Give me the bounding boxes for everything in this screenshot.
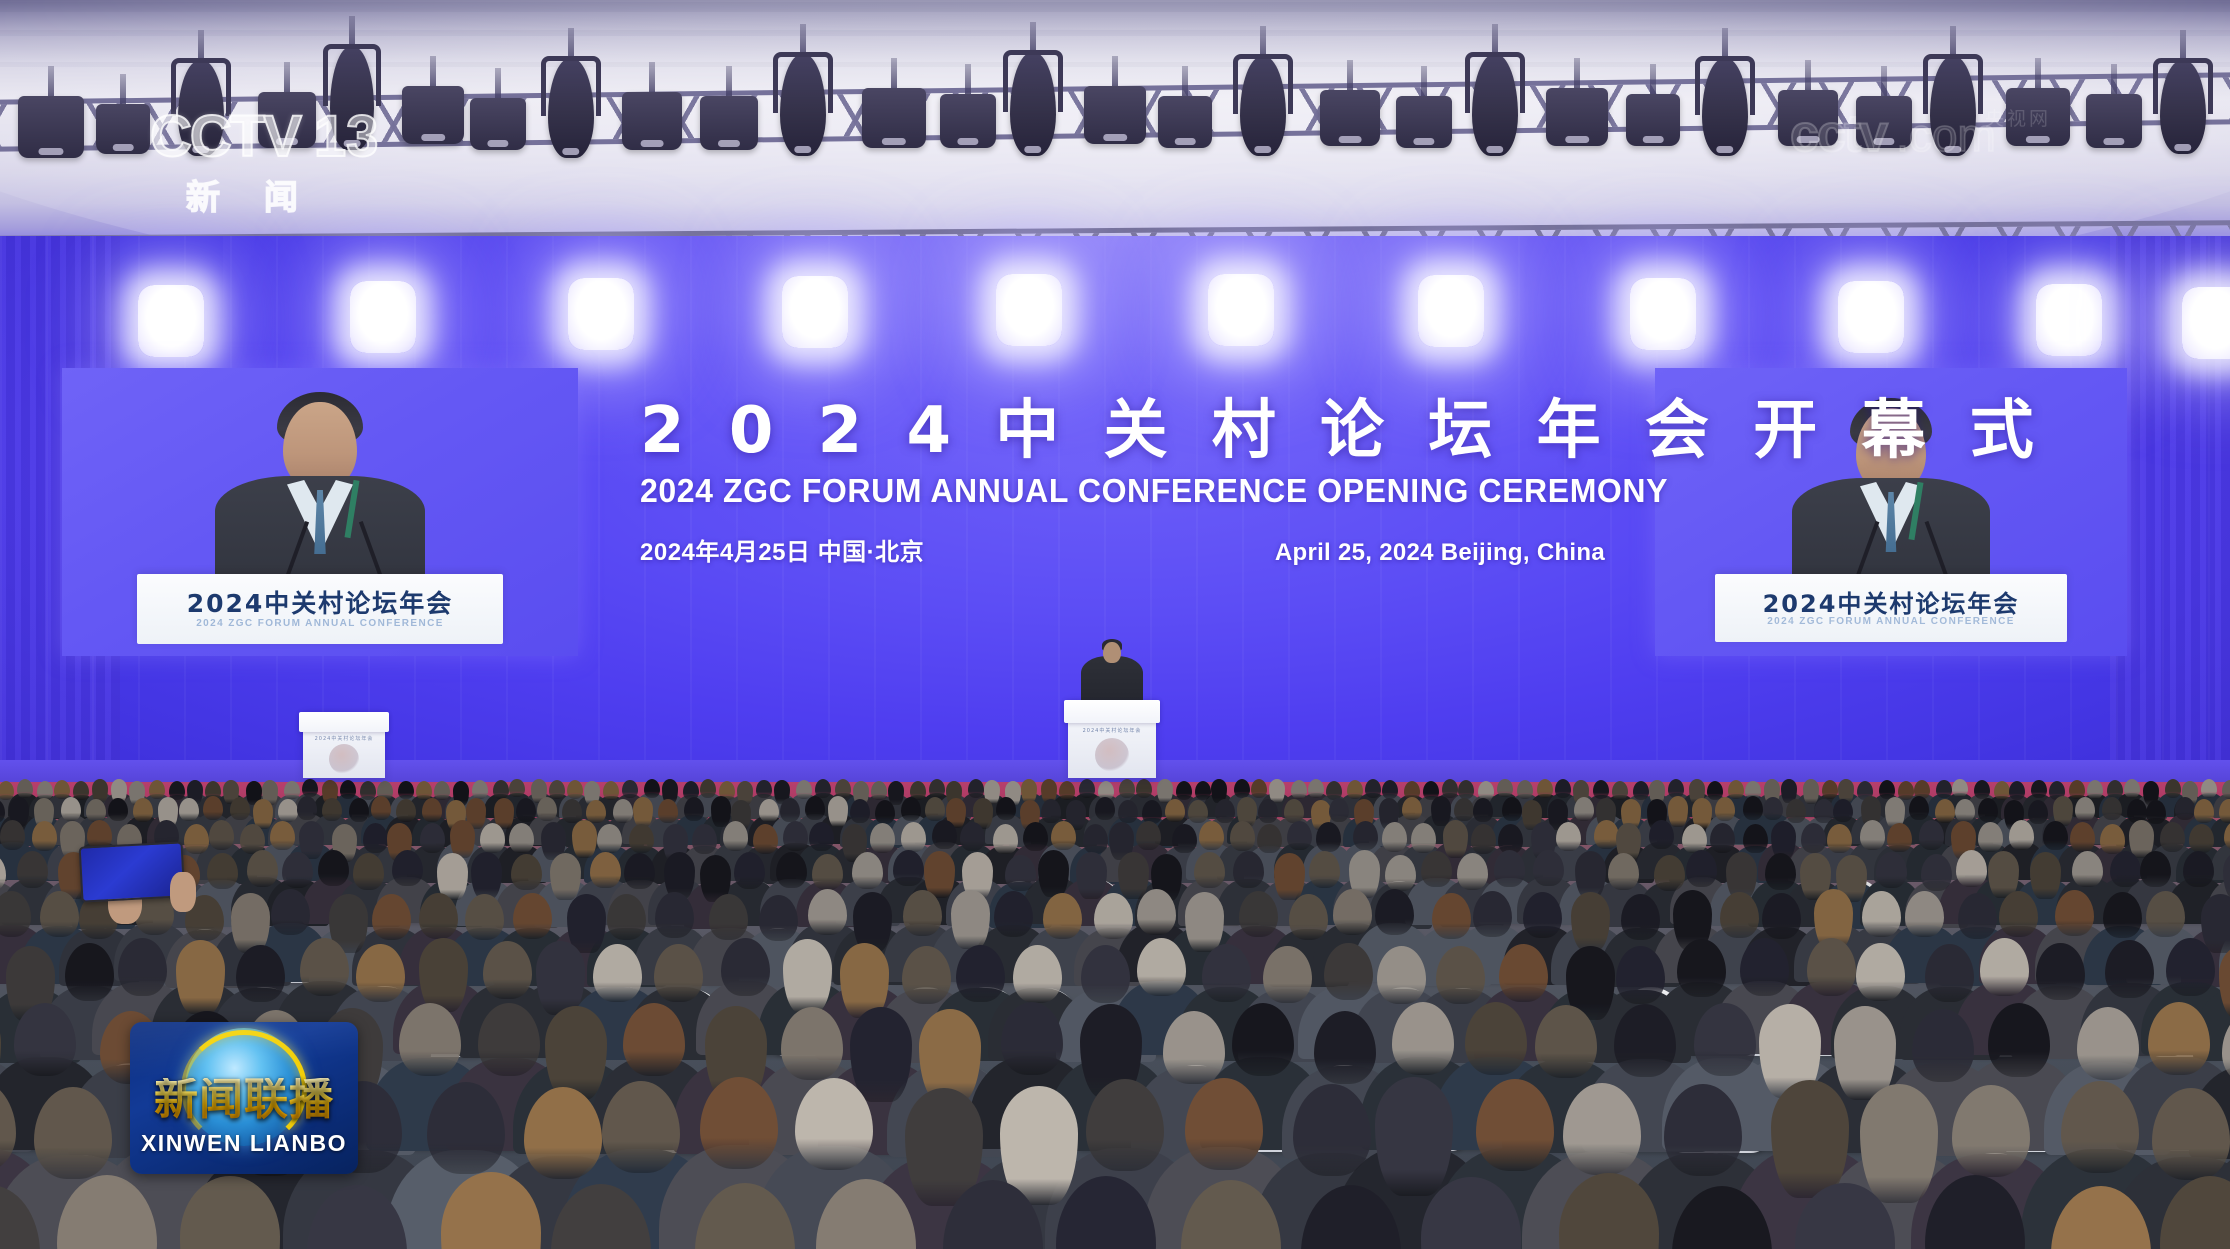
- cctv-channel-subtitle: 新 闻: [186, 170, 378, 219]
- audience-member-head: [586, 800, 606, 824]
- audience-member-head: [1833, 799, 1853, 823]
- watermark-cn-caption: 央视网: [1985, 104, 2051, 131]
- audience-member-head: [480, 823, 505, 853]
- podium-top-panel: [1064, 700, 1161, 723]
- audience-member-head: [1230, 821, 1255, 851]
- audience-member-head: [2165, 779, 2181, 798]
- audience-member-head: [1668, 796, 1688, 826]
- event-title-block: 2 0 2 4 中 关 村 论 坛 年 会 开 幕 式 2024 ZGC FOR…: [640, 398, 1605, 567]
- audience-member-head: [960, 822, 985, 852]
- audience-member-head: [700, 779, 716, 798]
- audience-member-head: [902, 946, 951, 1004]
- audience-member-head: [1086, 1079, 1164, 1171]
- audience-member-head: [108, 798, 128, 822]
- audience-member-head: [903, 890, 942, 936]
- led-podium: 2024中关村论坛年会 2024 ZGC FORUM ANNUAL CONFER…: [137, 574, 503, 644]
- audience-member-head: [2072, 851, 2103, 888]
- audience-member-head: [1614, 1004, 1676, 1077]
- live-speaker: [1081, 656, 1143, 706]
- stage-softbox-light: [782, 276, 848, 348]
- audience-member-head: [809, 822, 834, 852]
- audience-member-head: [1365, 779, 1381, 798]
- truss-hanger-cable: [1112, 56, 1118, 90]
- light-lens: [641, 140, 664, 147]
- audience-member-head: [371, 796, 391, 820]
- audience-member-head: [1594, 820, 1619, 850]
- cctv-channel-logo: CCTV 13 新 闻: [150, 108, 378, 219]
- audience-member-head: [1142, 800, 1162, 824]
- audience-member-head: [759, 799, 779, 823]
- light-lens: [1565, 136, 1589, 143]
- truss-hanger-cable: [1574, 58, 1580, 92]
- stage-softbox-light: [1630, 278, 1696, 350]
- light-yoke: [1233, 54, 1293, 114]
- audience-member-head: [1382, 780, 1398, 799]
- audience-member-head: [783, 939, 832, 1013]
- audience-member-head: [1119, 779, 1135, 798]
- light-yoke: [1923, 54, 1983, 114]
- audience-member-head: [1239, 891, 1278, 937]
- audience-member-head: [493, 780, 509, 799]
- light-lens: [794, 146, 811, 153]
- podium-top-panel: [299, 712, 389, 732]
- audience-member-head: [392, 850, 423, 887]
- program-title-en: XINWEN LIANBO: [130, 1130, 358, 1157]
- audience-member-head: [562, 799, 582, 823]
- audience-member-head: [1038, 850, 1069, 897]
- cctv-channel-number: 13: [314, 108, 379, 166]
- audience-member-head: [1803, 779, 1819, 803]
- audience-member-head: [2087, 780, 2103, 799]
- audience-member-head: [1473, 798, 1493, 822]
- audience-member-head: [850, 1007, 912, 1101]
- audience-member-head: [1999, 891, 2038, 937]
- light-yoke: [323, 44, 381, 106]
- audience-member-head: [509, 779, 525, 798]
- stage-light-fixture: [1158, 96, 1212, 148]
- audience-member-head: [1118, 800, 1138, 824]
- audience-member-head: [1925, 944, 1974, 1002]
- audience-member-head: [1118, 852, 1149, 899]
- led-podium-title-cn: 2024中关村论坛年会: [137, 584, 503, 620]
- audience-member-head: [2194, 799, 2214, 823]
- truss-hanger-cable: [430, 56, 436, 90]
- audience-member-head: [1136, 779, 1152, 798]
- audience-member-head: [1195, 781, 1211, 800]
- audience-member-head: [644, 779, 660, 798]
- audience-member-head: [1382, 822, 1407, 852]
- audience-member-head: [756, 780, 772, 799]
- stage-light-fixture: [96, 104, 150, 154]
- audience-member-head: [2201, 779, 2217, 798]
- audience-member-head: [2160, 822, 2185, 852]
- audience-member-head: [509, 823, 534, 853]
- audience-member-head: [1375, 889, 1414, 935]
- audience-member-head: [184, 824, 209, 854]
- audience-member-head: [536, 941, 585, 1015]
- truss-hanger-cable: [1650, 64, 1656, 98]
- light-yoke: [1465, 52, 1525, 113]
- audience-member-head: [1814, 799, 1834, 823]
- truss-hanger-cable: [1881, 66, 1887, 100]
- audience-member-head: [1137, 938, 1186, 996]
- audience-member-head: [951, 890, 990, 949]
- stage-light-fixture: [862, 88, 926, 148]
- audience-member-head: [133, 798, 153, 822]
- stage-softbox-light: [138, 285, 204, 357]
- audience-member-head: [1827, 824, 1852, 854]
- audience-member-head: [300, 938, 349, 996]
- truss-hanger-cable: [2111, 64, 2117, 98]
- audience-member-head: [932, 820, 957, 850]
- podium-nameplate: 2024中关村论坛年会: [303, 735, 385, 742]
- audience-member-head: [1494, 850, 1525, 887]
- stage-light-fixture: [1396, 96, 1452, 148]
- truss-hanger-cable: [726, 66, 732, 100]
- audience-member-head: [2189, 824, 2214, 854]
- audience-member-head: [1172, 824, 1197, 854]
- moving-head-light: [1702, 58, 1748, 156]
- audience-member-head: [302, 779, 318, 798]
- audience-member-head: [2009, 781, 2025, 800]
- event-title-en: 2024 ZGC FORUM ANNUAL CONFERENCE OPENING…: [640, 472, 1576, 510]
- audience-member-head: [0, 820, 25, 850]
- audience-member-head: [850, 799, 870, 823]
- audience-member-head: [1743, 796, 1763, 820]
- audience-member-head: [852, 852, 883, 889]
- audience-member-head: [1005, 855, 1036, 892]
- audience-member-head: [1502, 797, 1522, 821]
- stage-light-fixture: [1084, 86, 1146, 144]
- audience-member-head: [349, 798, 369, 822]
- audience-member-head: [1763, 797, 1783, 821]
- stage-light-fixture: [402, 86, 464, 144]
- audience-member-head: [472, 780, 488, 799]
- audience-member-head: [1308, 779, 1324, 798]
- event-date-cn: 2024年4月25日 中国·北京: [640, 532, 924, 567]
- audience-member-head: [1801, 823, 1826, 853]
- audience-member-head: [1523, 892, 1562, 938]
- audience-member-head: [1533, 850, 1564, 887]
- audience-member-head: [549, 780, 565, 799]
- audience-member-head: [17, 779, 33, 798]
- audience-member-head: [1458, 780, 1474, 799]
- event-date-en: April 25, 2024 Beijing, China: [1275, 539, 1605, 567]
- audience-member-head: [2028, 800, 2048, 824]
- audience-member-head: [1188, 800, 1208, 824]
- audience-member-head: [835, 779, 851, 798]
- truss-hanger-cable: [495, 68, 501, 102]
- audience-member-head: [37, 781, 53, 800]
- audience-member-head: [875, 800, 895, 824]
- audience-member-head: [1537, 779, 1553, 798]
- audience-member-head: [1023, 822, 1048, 852]
- audience-member-head: [1251, 779, 1267, 798]
- audience-member-head: [1887, 823, 1912, 853]
- truss-hanger-cable: [2035, 58, 2041, 92]
- audience-member-head: [812, 854, 843, 891]
- audience-member-head: [1988, 1003, 2050, 1076]
- audience-member-head: [1233, 851, 1264, 888]
- light-lens: [2026, 136, 2050, 143]
- audience-member-head: [1786, 799, 1806, 823]
- audience-member-head: [2222, 780, 2230, 799]
- audience-member-head: [61, 797, 81, 821]
- audience-member-head: [2030, 852, 2061, 899]
- audience-member-head: [1375, 1077, 1453, 1196]
- audience-member-head: [1473, 891, 1512, 937]
- truss-hanger-cable: [649, 62, 655, 96]
- audience-member-head: [363, 823, 388, 853]
- led-podium: 2024中关村论坛年会 2024 ZGC FORUM ANNUAL CONFER…: [1715, 574, 2067, 642]
- audience-member-head: [780, 798, 800, 822]
- audience-member-head: [925, 797, 945, 821]
- audience-member-head: [1978, 798, 1998, 822]
- light-lens: [1413, 138, 1434, 145]
- light-yoke: [2153, 58, 2213, 114]
- audience-member-head: [870, 823, 895, 853]
- audience-member-head: [1471, 824, 1496, 854]
- stage-softbox-light: [2182, 287, 2230, 359]
- watermark-brand: cctv: [1790, 108, 1886, 160]
- audience-member-head: [1876, 852, 1907, 889]
- audience-member-head: [1994, 781, 2010, 800]
- ceiling-band: [0, 30, 2230, 36]
- audience-member-head: [1682, 824, 1707, 854]
- audience-member-head: [356, 944, 405, 1002]
- moving-head-light: [1010, 52, 1056, 156]
- truss-hanger-cable: [891, 58, 897, 92]
- audience-member-head: [1728, 780, 1744, 799]
- audience-member-head: [40, 891, 79, 937]
- light-lens: [113, 144, 134, 151]
- audience-member-head: [1185, 892, 1224, 951]
- audience-member-head: [629, 824, 654, 854]
- audience-member-head: [318, 850, 349, 887]
- audience-member-head: [1593, 780, 1609, 799]
- audience-member-head: [2110, 851, 2141, 888]
- stage-podium-center: 2024中关村论坛年会: [1068, 700, 1156, 778]
- truss-hanger-cable: [1421, 66, 1427, 100]
- audience-member-head: [1257, 824, 1282, 854]
- audience-member-head: [1921, 854, 1952, 891]
- audience-member-head: [1955, 799, 1975, 823]
- audience-member-head: [1136, 821, 1161, 851]
- audience-member-head: [1385, 855, 1416, 892]
- audience-member-head: [1287, 821, 1312, 851]
- audience-member-head: [1411, 823, 1436, 853]
- audience-member-head: [297, 796, 317, 820]
- light-lens: [1339, 136, 1362, 143]
- event-title-cn: 2 0 2 4 中 关 村 论 坛 年 会 开 幕 式: [640, 398, 1605, 466]
- audience-member-head: [1079, 779, 1095, 798]
- audience-member-head: [1457, 853, 1488, 890]
- audience-member-head: [1043, 893, 1082, 939]
- moving-head-light: [548, 58, 594, 158]
- audience-member-head: [655, 892, 694, 938]
- truss-hanger-cable: [1182, 66, 1188, 100]
- audience-member-head: [1935, 799, 1955, 823]
- light-lens: [2174, 144, 2191, 151]
- truss-hanger-cable: [1805, 60, 1811, 94]
- audience-member-head: [1274, 853, 1305, 900]
- led-podium-title-en: 2024 ZGC FORUM ANNUAL CONFERENCE: [1715, 616, 2067, 627]
- audience-member-head: [1574, 797, 1594, 821]
- stage-softbox-light: [1208, 274, 1274, 346]
- audience-member-head: [1309, 851, 1340, 888]
- stage-light-fixture: [940, 94, 996, 148]
- audience-member-head: [734, 852, 765, 889]
- watermark-domain: .com: [1896, 112, 1996, 158]
- truss-hanger-cable: [284, 62, 290, 96]
- event-meta-row: 2024年4月25日 中国·北京 April 25, 2024 Beijing,…: [640, 532, 1605, 567]
- led-screen-left: 2024中关村论坛年会 2024 ZGC FORUM ANNUAL CONFER…: [62, 368, 578, 656]
- audience-member-head: [399, 1003, 461, 1076]
- audience-member-head: [419, 938, 468, 1012]
- audience-member-head: [1879, 780, 1895, 799]
- audience-member-head: [360, 781, 376, 800]
- audience-member-head: [723, 821, 748, 851]
- audience-member-head: [1612, 781, 1628, 800]
- audience-member-head: [513, 893, 552, 939]
- audience-member-head: [176, 940, 225, 1014]
- audience-member-head: [2100, 824, 2125, 854]
- cctv-logo-row: CCTV 13: [150, 108, 378, 166]
- raised-hand-thumb: [170, 872, 196, 912]
- stage-light-fixture: [700, 96, 758, 150]
- audience-member-head: [86, 799, 106, 823]
- audience-member-head: [1743, 824, 1768, 854]
- audience-member-head: [2031, 780, 2047, 799]
- audience-member-head: [1094, 893, 1133, 939]
- audience-member-head: [613, 799, 633, 823]
- truss-hanger-cable: [120, 74, 126, 108]
- audience-member-head: [993, 824, 1018, 854]
- podium-emblem: [1095, 738, 1129, 772]
- audience-member-head: [1083, 824, 1108, 854]
- truss-hanger-cable: [965, 64, 971, 98]
- audience-member-head: [1316, 822, 1341, 852]
- light-lens: [421, 134, 445, 141]
- stage-softbox-light: [2036, 284, 2102, 356]
- audience-member-head: [1329, 798, 1349, 822]
- audience-member-head: [1234, 779, 1250, 798]
- stage-light-fixture: [622, 92, 682, 150]
- program-title-cn: 新闻联播: [130, 1078, 358, 1122]
- audience-member-head: [322, 798, 342, 822]
- audience-member-head: [1284, 799, 1304, 823]
- audience-member-head: [1980, 938, 2029, 996]
- audience-member-head: [1608, 853, 1639, 890]
- audience-member-head: [511, 854, 542, 891]
- audience-member-head: [2166, 938, 2215, 996]
- audience-member-head: [776, 852, 807, 889]
- audience-member-head: [1621, 894, 1660, 940]
- audience-member-head: [815, 779, 831, 798]
- audience-member-head: [179, 798, 199, 822]
- audience-member-head: [416, 781, 432, 800]
- audience-member-head: [1936, 780, 1952, 799]
- audience-member-head: [1194, 852, 1225, 889]
- audience-member-head: [1258, 799, 1278, 823]
- light-yoke: [1003, 50, 1063, 112]
- audience-member-head: [0, 781, 14, 800]
- stage-softbox-light: [1418, 275, 1484, 347]
- audience-member-head: [1649, 820, 1674, 850]
- stage-light-fixture: [470, 98, 526, 150]
- audience-member-head: [1633, 781, 1649, 800]
- audience-member-head: [1898, 781, 1914, 800]
- audience-member-head: [2070, 822, 2095, 852]
- audience-member-head: [1616, 946, 1665, 1004]
- audience-member-head: [2175, 797, 2195, 821]
- ceiling-band: [0, 2, 2230, 12]
- audience-member-head: [32, 821, 57, 851]
- cctv-com-watermark: cctv .com: [1790, 108, 1996, 160]
- audience-member-head: [17, 851, 48, 888]
- light-lens: [487, 140, 508, 147]
- light-lens: [957, 138, 978, 145]
- moving-head-light: [1472, 54, 1518, 156]
- light-yoke: [773, 52, 833, 113]
- audience-member-head: [1677, 939, 1726, 997]
- led-podium-title-cn: 2024中关村论坛年会: [1715, 584, 2067, 619]
- audience-member-head: [1909, 796, 1929, 820]
- audience-member-head: [1710, 823, 1735, 853]
- light-yoke: [541, 56, 601, 116]
- audience-member-head: [567, 780, 583, 799]
- audience-member-head: [471, 852, 502, 899]
- led-left-content: 2024中关村论坛年会 2024 ZGC FORUM ANNUAL CONFER…: [62, 368, 578, 656]
- audience-member-head: [1436, 946, 1485, 1004]
- stage-light-fixture: [2086, 94, 2142, 148]
- audience-member-head: [478, 1003, 540, 1076]
- audience-member-head: [1978, 822, 2003, 852]
- light-lens: [1175, 138, 1196, 145]
- audience-member-head: [2124, 779, 2140, 798]
- audience-member-head: [550, 853, 581, 900]
- stage-softbox-light: [996, 274, 1062, 346]
- audience-member-head: [118, 938, 167, 996]
- audience-member-head: [207, 853, 238, 890]
- light-lens: [562, 148, 579, 155]
- audience-member-head: [1555, 779, 1571, 798]
- podium-nameplate: 2024中关村论坛年会: [1068, 727, 1156, 734]
- audience-member-head: [1293, 1084, 1371, 1176]
- audience-member-head: [340, 780, 356, 799]
- light-lens: [1024, 146, 1041, 153]
- audience-member-head: [654, 944, 703, 1002]
- light-lens: [882, 138, 906, 145]
- audience-member-head: [828, 796, 848, 826]
- audience-member-head: [590, 852, 621, 889]
- audience-member-head: [1860, 1084, 1938, 1203]
- audience-member-head: [1771, 1080, 1849, 1199]
- audience-member-head: [901, 797, 921, 821]
- light-lens: [1486, 146, 1503, 153]
- audience-member-head: [622, 780, 638, 799]
- audience-member-head: [1454, 798, 1474, 822]
- audience-member-head: [968, 779, 984, 798]
- audience-member-head: [2146, 800, 2166, 824]
- audience-member-head: [271, 889, 310, 935]
- led-podium-title-en: 2024 ZGC FORUM ANNUAL CONFERENCE: [137, 618, 503, 629]
- stage-softbox-light: [350, 281, 416, 353]
- audience-member-head: [1740, 938, 1789, 996]
- audience-member-head: [624, 853, 655, 890]
- audience-member-head: [2043, 821, 2068, 851]
- audience-member-head: [2077, 1007, 2139, 1080]
